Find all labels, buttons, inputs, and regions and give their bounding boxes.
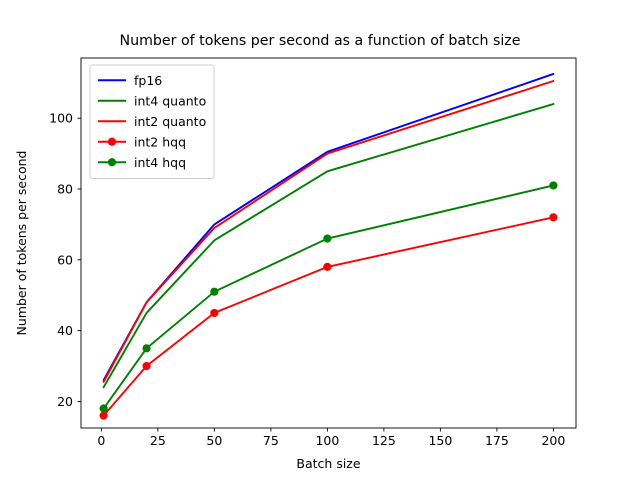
data-point-int2-hqq bbox=[550, 214, 557, 221]
legend-label-int4-hqq: int4 hqq bbox=[134, 155, 186, 170]
x-tick-label: 200 bbox=[541, 433, 565, 448]
x-tick-label: 75 bbox=[263, 433, 279, 448]
data-point-int2-hqq bbox=[143, 362, 150, 369]
data-point-int4-hqq bbox=[143, 345, 150, 352]
x-tick-label: 0 bbox=[97, 433, 105, 448]
y-tick-label: 40 bbox=[57, 323, 73, 338]
y-tick-label: 60 bbox=[57, 252, 73, 267]
data-point-int2-hqq bbox=[100, 412, 107, 419]
data-point-int4-hqq bbox=[324, 235, 331, 242]
y-tick-label: 80 bbox=[57, 182, 73, 197]
y-axis-label: Number of tokens per second bbox=[14, 151, 29, 336]
legend-label-int2-hqq: int2 hqq bbox=[134, 134, 186, 149]
data-point-int2-hqq bbox=[211, 309, 218, 316]
data-point-int4-hqq bbox=[550, 182, 557, 189]
data-point-int2-hqq bbox=[324, 263, 331, 270]
x-tick-label: 25 bbox=[150, 433, 166, 448]
figure-canvas: Number of tokens per second as a functio… bbox=[0, 0, 640, 480]
x-axis-label: Batch size bbox=[296, 456, 360, 471]
legend-marker-int4-hqq bbox=[108, 159, 115, 166]
legend-marker-int2-hqq bbox=[108, 138, 115, 145]
x-tick-label: 125 bbox=[372, 433, 396, 448]
x-tick-label: 50 bbox=[206, 433, 222, 448]
data-point-int4-hqq bbox=[211, 288, 218, 295]
legend-label-int2-quanto: int2 quanto bbox=[134, 114, 206, 129]
line-chart: Number of tokens per second as a functio… bbox=[0, 0, 640, 480]
legend-label-int4-quanto: int4 quanto bbox=[134, 93, 206, 108]
legend-label-fp16: fp16 bbox=[134, 73, 162, 88]
chart-legend: fp16int4 quantoint2 quantoint2 hqqint4 h… bbox=[90, 65, 214, 179]
y-tick-label: 100 bbox=[49, 111, 73, 126]
data-point-int4-hqq bbox=[100, 405, 107, 412]
y-tick-label: 20 bbox=[57, 394, 73, 409]
chart-title: Number of tokens per second as a functio… bbox=[120, 33, 521, 49]
x-tick-label: 175 bbox=[485, 433, 509, 448]
x-tick-label: 150 bbox=[428, 433, 452, 448]
x-tick-label: 100 bbox=[315, 433, 339, 448]
